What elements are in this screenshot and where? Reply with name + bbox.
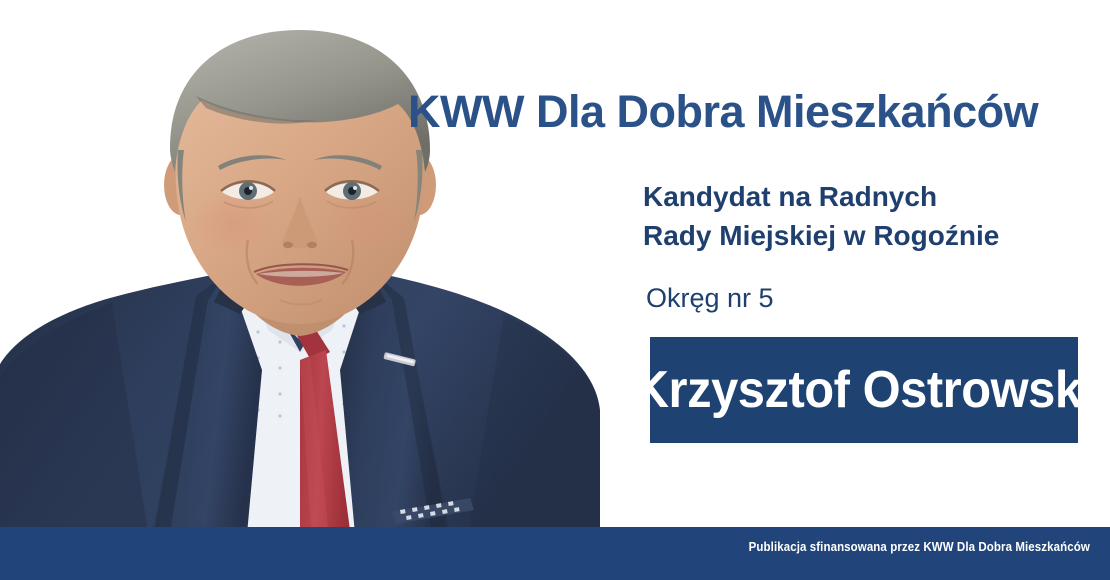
district-label: Okręg nr 5 [646,283,774,314]
subtitle: Kandydat na Radnych Rady Miejskiej w Rog… [643,178,1093,255]
candidate-name: Krzysztof Ostrowski [634,360,1095,420]
candidate-name-banner: Krzysztof Ostrowski [650,337,1078,443]
subtitle-line-2: Rady Miejskiej w Rogoźnie [643,217,1093,256]
footer-bar: Publikacja sfinansowana przez KWW Dla Do… [0,527,1110,580]
subtitle-line-1: Kandydat na Radnych [643,178,1093,217]
funding-disclaimer: Publikacja sfinansowana przez KWW Dla Do… [749,540,1090,554]
page-title: KWW Dla Dobra Mieszkańców [408,88,1098,135]
candidate-photo [0,0,660,545]
campaign-poster: KWW Dla Dobra Mieszkańców Kandydat na Ra… [0,0,1110,580]
